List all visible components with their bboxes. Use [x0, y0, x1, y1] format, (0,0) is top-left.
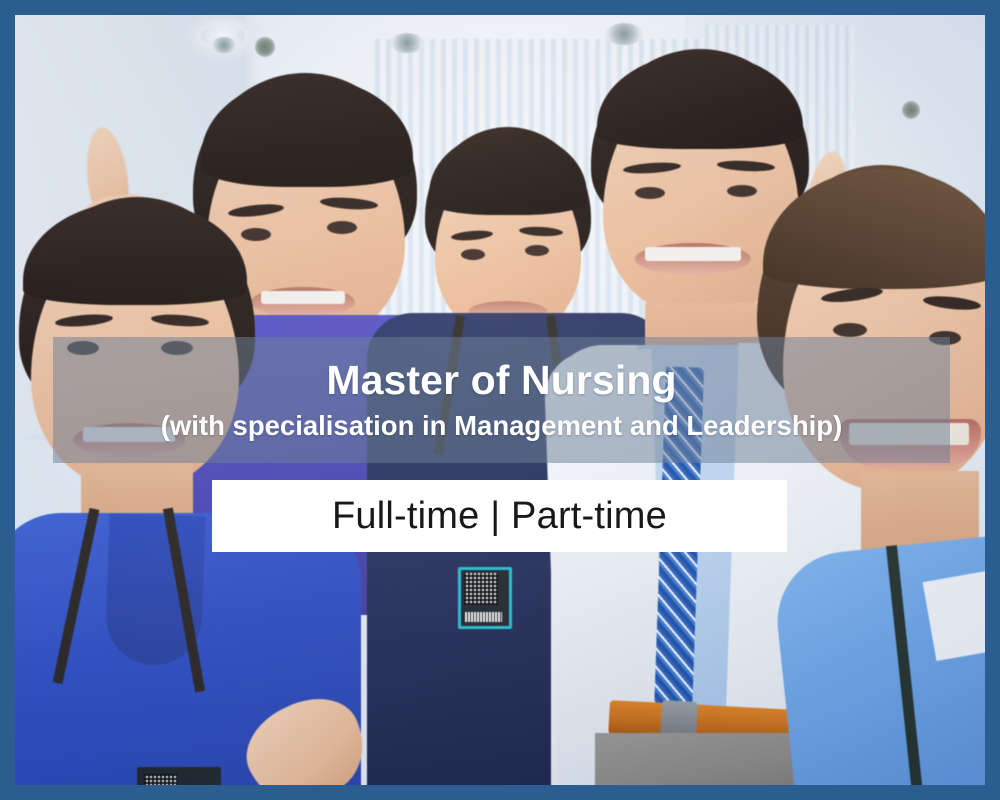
page-subtitle: (with specialisation in Management and L… — [161, 411, 843, 441]
ceiling-light-3 — [390, 33, 424, 53]
eye-center-left — [461, 249, 485, 260]
title-overlay-band: Master of Nursing (with specialisation i… — [53, 337, 950, 463]
ceiling-light-2 — [211, 37, 237, 53]
scrubs-front-right — [771, 532, 985, 785]
id-badge-center — [458, 567, 512, 629]
ceiling-sensor — [255, 37, 275, 57]
ceiling-vent — [902, 101, 920, 119]
eye-fr-left — [833, 323, 867, 337]
eye-center-right — [525, 245, 549, 256]
study-mode-text: Full-time | Part-time — [332, 495, 667, 538]
teeth-back-left — [261, 291, 345, 304]
id-badge-front-left — [137, 767, 221, 785]
ceiling-light-4 — [605, 23, 643, 45]
eye-left — [241, 228, 271, 241]
course-promo-banner: Master of Nursing (with specialisation i… — [0, 0, 1000, 800]
eye-right — [327, 221, 357, 234]
study-mode-box: Full-time | Part-time — [212, 480, 787, 552]
trousers — [595, 733, 803, 785]
eye-doctor-right — [727, 185, 757, 197]
teeth-doctor — [645, 247, 741, 261]
page-title: Master of Nursing — [326, 359, 676, 402]
eye-doctor-left — [635, 187, 665, 199]
